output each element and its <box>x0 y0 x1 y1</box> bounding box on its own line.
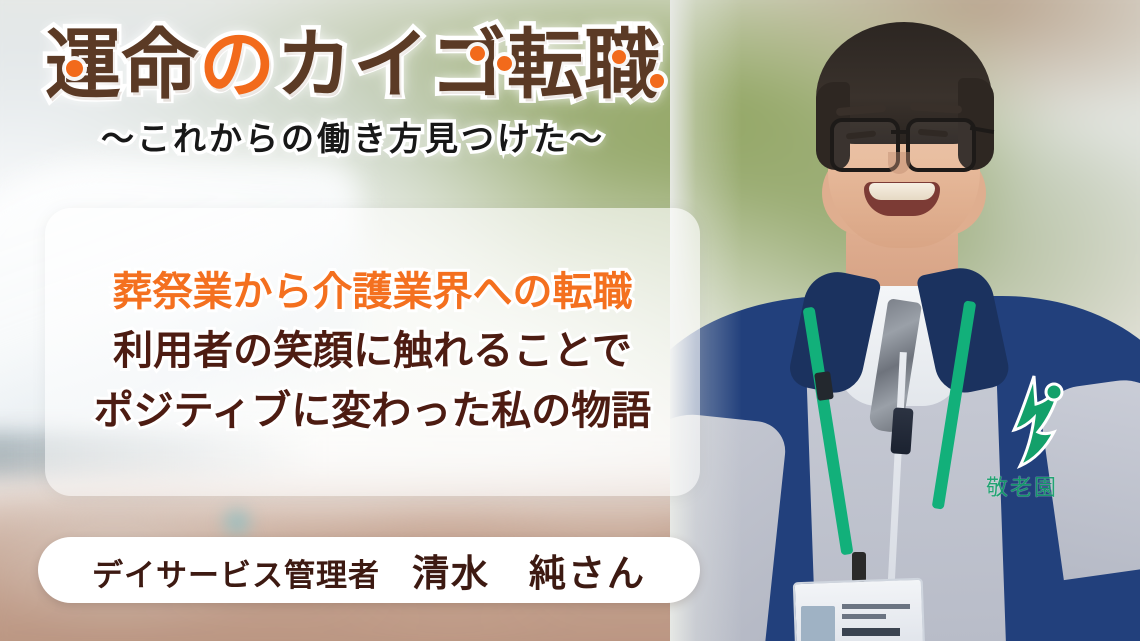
title-dot-icon <box>497 56 512 71</box>
message-line-headline: 葬祭業から介護業界への転職 <box>113 263 633 322</box>
lanyard-clip <box>890 407 913 454</box>
nose <box>888 152 910 174</box>
title-block: 運命のカイゴ転職 〜これからの働き方見つけた〜 <box>0 24 706 160</box>
program-subtitle: 〜これからの働き方見つけた〜 <box>0 112 706 160</box>
message-line-2: 利用者の笑顔に触れることで <box>113 322 632 381</box>
portrait-photo: 敬老園 <box>670 0 1140 641</box>
title-dot-icon <box>650 74 664 88</box>
id-badge-line <box>842 604 910 609</box>
glasses-bridge <box>891 130 909 134</box>
glasses-lens-right <box>906 118 976 172</box>
uniform-logo-text: 敬老園 <box>986 470 1096 500</box>
person-name: 清水 純さん <box>412 552 646 595</box>
title-dot-icon <box>470 46 485 61</box>
teeth <box>869 183 935 200</box>
person-role: デイサービス管理者 <box>92 558 380 594</box>
name-pill-text: デイサービス管理者 清水 純さん <box>92 543 646 597</box>
id-badge-line <box>842 614 886 619</box>
message-card: 葬祭業から介護業界への転職 利用者の笑顔に触れることで ポジティブに変わった私の… <box>45 208 700 496</box>
name-separator <box>380 558 412 594</box>
program-title-part-2: の <box>199 20 276 109</box>
thumbnail-canvas: 敬老園 運命のカイゴ転職 〜これからの働き方見つけた〜 葬祭業から介護業界への転… <box>0 0 1140 641</box>
title-dot-icon <box>66 60 83 77</box>
uniform-logo-icon <box>992 368 1078 478</box>
id-badge-name <box>842 628 900 636</box>
badge-clip <box>852 552 866 582</box>
title-dot-icon <box>612 50 626 64</box>
program-title-part-3: カイゴ転職 <box>276 20 661 109</box>
name-pill: デイサービス管理者 清水 純さん <box>38 537 700 603</box>
message-line-3: ポジティブに変わった私の物語 <box>94 382 652 441</box>
background-highlight <box>214 505 260 539</box>
id-badge-photo <box>801 606 835 641</box>
program-title: 運命のカイゴ転職 <box>0 24 706 106</box>
